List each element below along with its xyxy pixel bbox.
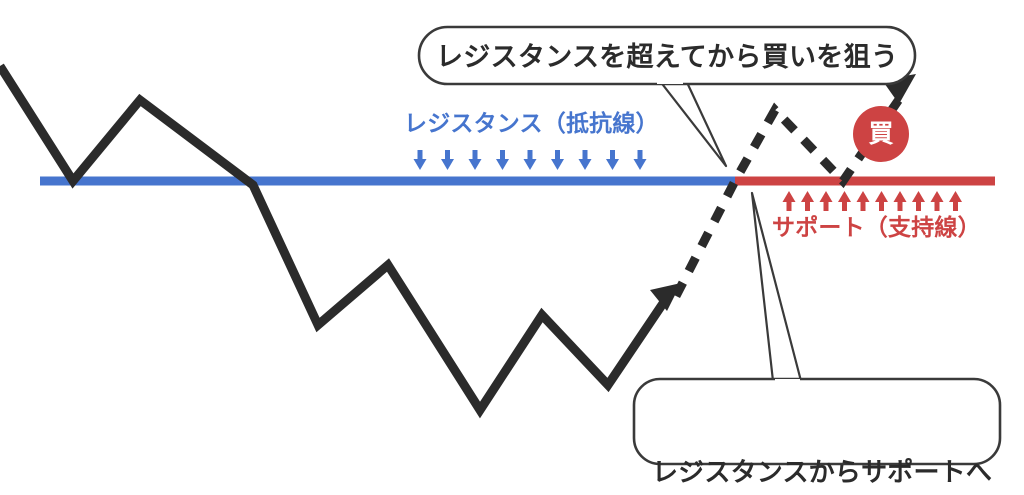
up-arrow-icon [894, 191, 907, 202]
diagram-canvas: レジスタンス（抵抗線） サポート（支持線） レジスタンスを超えてから買いを狙う … [0, 0, 1024, 495]
callout-bottom-seam-mask [775, 379, 800, 385]
down-arrow-icon [579, 159, 592, 170]
support-up-arrow-group [783, 191, 963, 211]
down-arrow-icon [496, 159, 509, 170]
down-arrow-icon [469, 159, 482, 170]
resistance-down-arrow-group [414, 150, 647, 170]
up-arrow-icon [838, 191, 851, 202]
callout-bottom-text: レジスタンスからサポートへ 役割転換 [652, 389, 992, 495]
callout-top-pointer [656, 76, 726, 166]
up-arrow-icon [912, 191, 925, 202]
down-arrow-icon [524, 159, 537, 170]
callout-bottom-line-1: レジスタンスからサポートへ [652, 456, 992, 489]
callout-top-seam-mask [657, 78, 683, 84]
up-arrow-icon [783, 191, 796, 202]
support-label: サポート（支持線） [772, 213, 981, 242]
down-arrow-icon [634, 159, 647, 170]
up-arrow-icon [820, 191, 833, 202]
callout-top-text: レジスタンスを超えてから買いを狙う [436, 40, 898, 75]
up-arrow-icon [949, 191, 962, 202]
up-arrow-icon [857, 191, 870, 202]
buy-badge-label: 買 [858, 118, 904, 150]
up-arrow-icon [801, 191, 814, 202]
up-arrow-icon [931, 191, 944, 202]
down-arrow-icon [414, 159, 427, 170]
resistance-label: レジスタンス（抵抗線） [404, 109, 659, 138]
down-arrow-icon [606, 159, 619, 170]
down-arrow-icon [441, 159, 454, 170]
up-arrow-icon [875, 191, 888, 202]
down-arrow-icon [551, 159, 564, 170]
